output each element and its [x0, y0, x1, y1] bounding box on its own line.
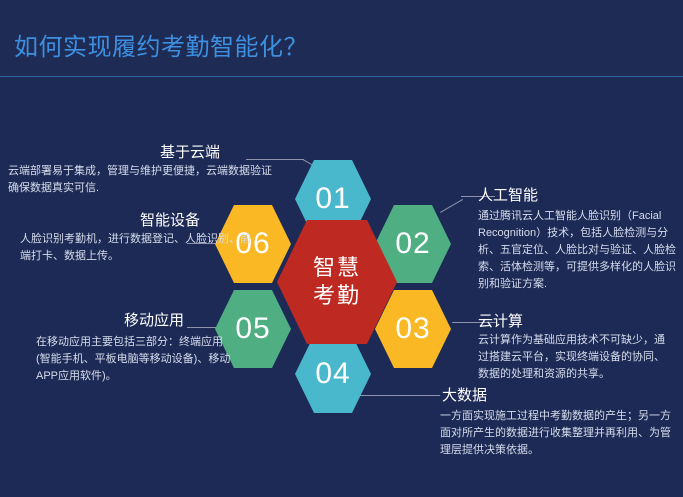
block-big-data-heading: 大数据 — [442, 386, 487, 406]
block-cloud-computing-heading: 云计算 — [478, 312, 523, 332]
hexagon-01-number: 01 — [315, 184, 350, 214]
block-cloud-computing-body: 云计算作为基础应用技术不可缺少，通过搭建云平台，实现终端设备的协同、数据的处理和… — [478, 332, 674, 383]
block-cloud-body: 云端部署易于集成，管理与维护更便捷，云端数据验证确保数据真实可信. — [8, 163, 276, 197]
block-big-data-body: 一方面实现施工过程中考勤数据的产生；另一方面对所产生的数据进行收集整理并再利用、… — [440, 408, 676, 459]
hexagon-center-line1: 智慧 — [313, 254, 361, 282]
block-device-heading: 智能设备 — [140, 211, 200, 231]
block-ai-heading: 人工智能 — [478, 186, 538, 206]
hexagon-02-number: 02 — [395, 229, 430, 259]
hexagon-04-number: 04 — [315, 359, 350, 389]
hexagon-center-line2: 考勤 — [313, 282, 361, 310]
block-mobile-heading: 移动应用 — [124, 311, 184, 331]
block-ai-body: 通过腾讯云人工智能人脸识别（Facial Recognition）技术，包括人脸… — [478, 208, 676, 293]
block-mobile-body: 在移动应用主要包括三部分：终端应用(智能手机、平板电脑等移动设备)、移动APP应… — [36, 334, 236, 385]
hexagon-05-number: 05 — [235, 314, 270, 344]
block-cloud-heading: 基于云端 — [160, 143, 220, 163]
slide-canvas: 如何实现履约考勤智能化？ 01 02 03 04 05 06 智慧 — [0, 0, 683, 497]
title-divider — [0, 76, 683, 77]
hexagon-04[interactable]: 04 — [295, 335, 371, 413]
hexagon-03-number: 03 — [395, 314, 430, 344]
title-bar: 如何实现履约考勤智能化？ — [0, 0, 683, 77]
page-title: 如何实现履约考勤智能化？ — [14, 33, 308, 63]
block-device-body: 人脸识别考勤机，进行数据登记、人脸识别、前端打卡、数据上传。 — [20, 231, 260, 265]
